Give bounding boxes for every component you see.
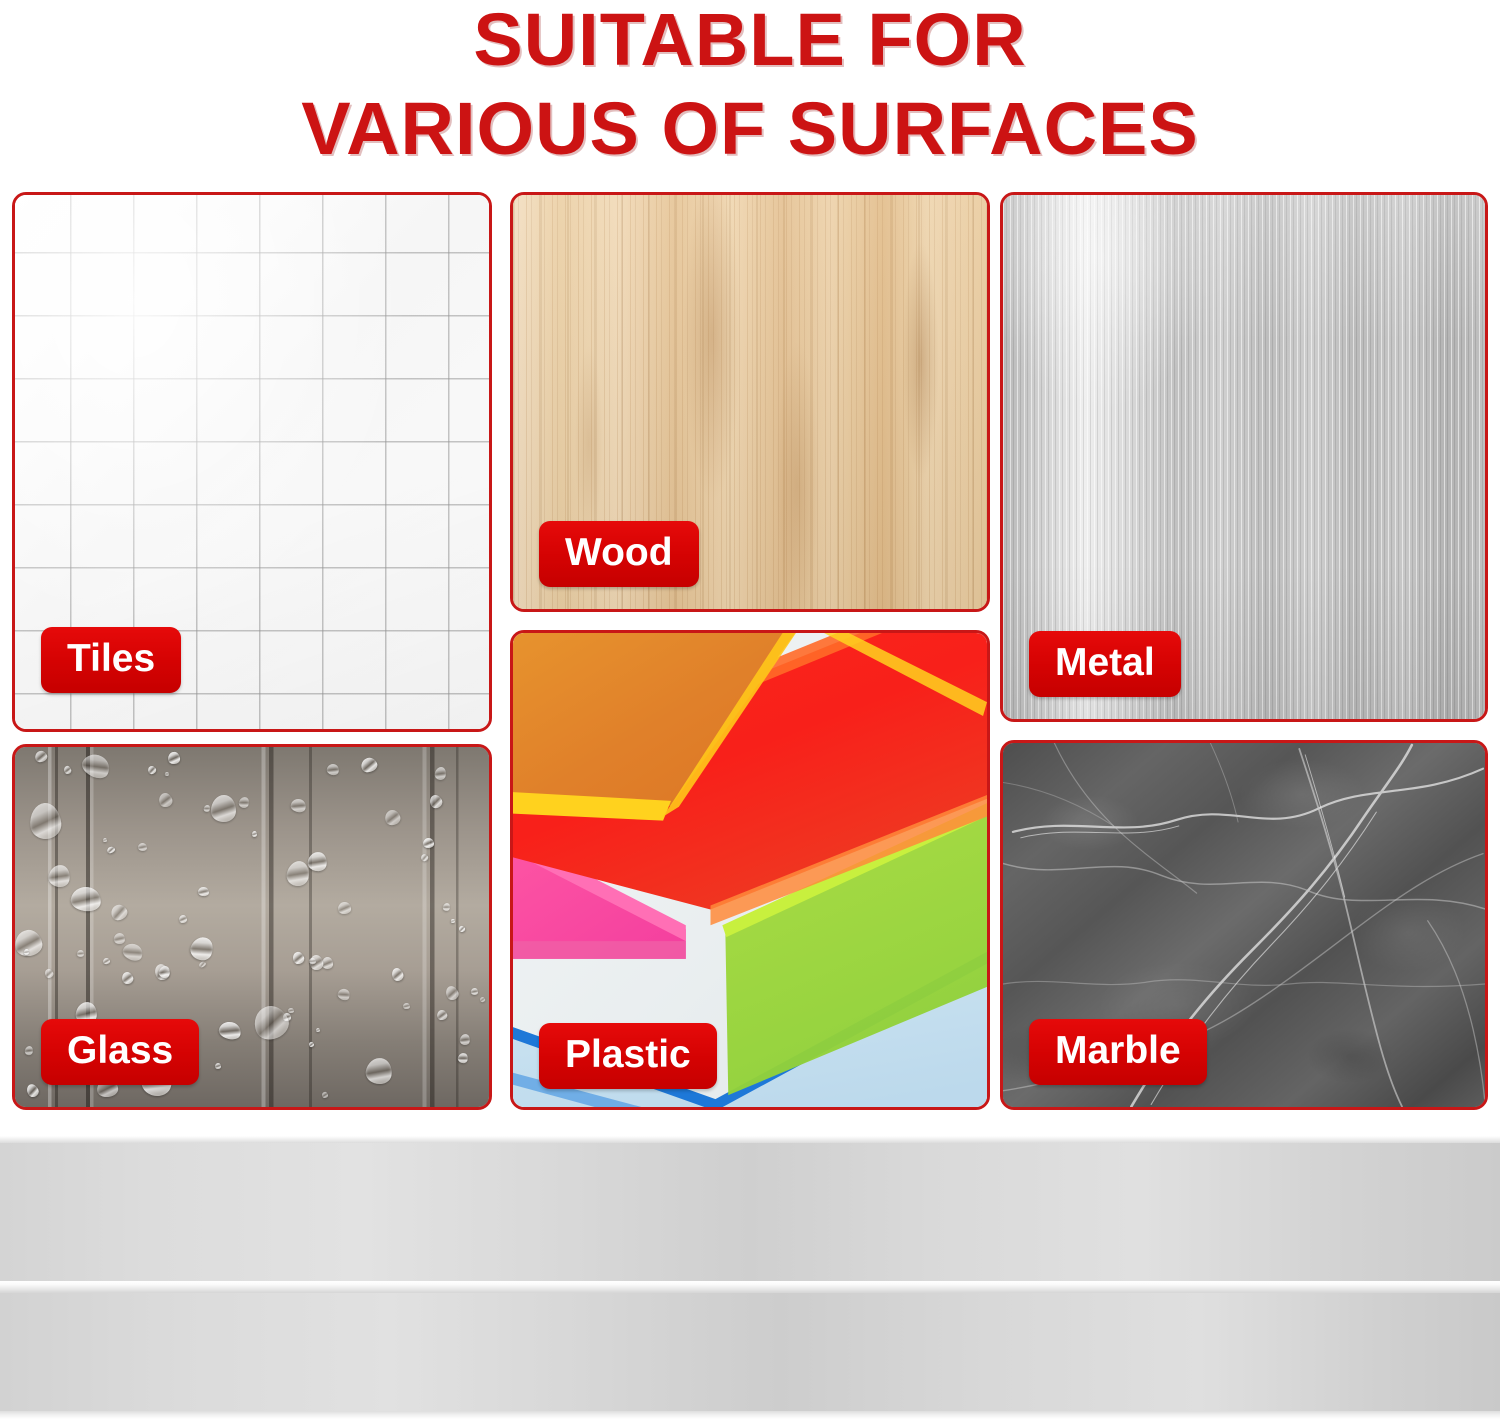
water-droplet — [308, 1041, 314, 1048]
surface-label-tiles: Tiles — [41, 627, 181, 693]
water-droplet — [120, 971, 134, 986]
water-droplet — [63, 765, 72, 774]
water-droplet — [103, 958, 111, 965]
water-droplet — [292, 951, 306, 966]
surface-label-wood: Wood — [539, 521, 699, 587]
surface-card-marble[interactable]: Marble — [1000, 740, 1488, 1110]
water-droplet — [108, 902, 129, 922]
water-droplet — [450, 919, 455, 923]
water-droplet — [326, 762, 340, 775]
water-droplet — [403, 1002, 410, 1009]
surface-card-glass[interactable]: Glass — [12, 744, 492, 1110]
water-droplet — [24, 1045, 34, 1055]
water-droplet — [164, 771, 169, 775]
water-droplet — [308, 957, 316, 964]
water-droplet — [390, 966, 405, 982]
water-droplet — [120, 941, 145, 963]
water-droplet — [146, 764, 157, 775]
water-droplet — [359, 755, 378, 773]
water-droplet — [470, 987, 478, 995]
water-droplet — [249, 1000, 293, 1044]
water-droplet — [28, 801, 63, 840]
water-droplet — [442, 902, 451, 912]
band-lower-panel — [0, 1293, 1500, 1411]
water-droplet — [459, 1033, 471, 1046]
band-seam-line — [0, 1281, 1500, 1293]
water-droplet — [23, 948, 29, 955]
water-droplet — [419, 852, 429, 862]
surface-label-plastic: Plastic — [539, 1023, 717, 1089]
water-droplet — [443, 984, 459, 1001]
surface-label-metal: Metal — [1029, 631, 1181, 697]
water-droplet — [336, 987, 352, 1002]
page-title-line-2: VARIOUS OF SURFACES — [301, 93, 1199, 166]
water-droplet — [217, 1019, 242, 1041]
water-droplet — [238, 796, 251, 810]
water-droplet — [187, 933, 216, 963]
water-droplet — [338, 902, 351, 915]
water-droplet — [215, 1063, 221, 1069]
water-droplet — [113, 932, 125, 944]
water-droplet — [252, 830, 257, 836]
band-upper-panel — [0, 1143, 1500, 1281]
water-droplet — [436, 1009, 448, 1021]
page-root: SUITABLE FOR VARIOUS OF SURFACES Tiles W… — [0, 0, 1500, 1419]
surface-card-wood[interactable]: Wood — [510, 192, 990, 612]
water-droplet — [179, 915, 188, 924]
water-droplet — [423, 838, 435, 849]
water-droplet — [77, 949, 86, 958]
water-droplet — [289, 798, 306, 814]
water-droplet — [157, 791, 173, 808]
water-droplet — [78, 750, 113, 783]
surface-card-plastic[interactable]: Plastic — [510, 630, 990, 1110]
water-droplet — [211, 794, 236, 821]
water-droplet — [69, 885, 102, 913]
water-droplet — [321, 1091, 328, 1098]
band-bottom-edge — [0, 1411, 1500, 1419]
water-droplet — [137, 843, 147, 853]
water-droplet — [106, 845, 115, 853]
water-droplet — [47, 863, 72, 888]
water-droplet — [44, 968, 54, 979]
surface-label-marble: Marble — [1029, 1019, 1207, 1085]
water-droplet — [383, 808, 402, 827]
water-droplet — [33, 749, 48, 763]
band-top-edge — [0, 1136, 1500, 1143]
water-droplet — [306, 851, 328, 873]
water-droplet — [458, 925, 466, 933]
water-droplet — [197, 886, 209, 897]
water-droplet — [199, 961, 208, 969]
water-droplet — [427, 793, 443, 810]
surface-card-tiles[interactable]: Tiles — [12, 192, 492, 732]
page-title: SUITABLE FOR VARIOUS OF SURFACES — [0, 0, 1500, 186]
water-droplet — [25, 1082, 41, 1098]
water-droplet — [456, 1051, 469, 1064]
water-droplet — [167, 752, 179, 765]
footer-metal-band — [0, 1136, 1500, 1419]
water-droplet — [479, 996, 485, 1002]
water-droplet — [364, 1056, 394, 1086]
surface-card-metal[interactable]: Metal — [1000, 192, 1488, 722]
water-droplet — [288, 1008, 295, 1014]
water-droplet — [315, 1028, 319, 1032]
page-title-line-1: SUITABLE FOR — [473, 4, 1026, 77]
water-droplet — [434, 766, 448, 781]
surface-label-glass: Glass — [41, 1019, 199, 1085]
water-droplet — [102, 838, 107, 843]
